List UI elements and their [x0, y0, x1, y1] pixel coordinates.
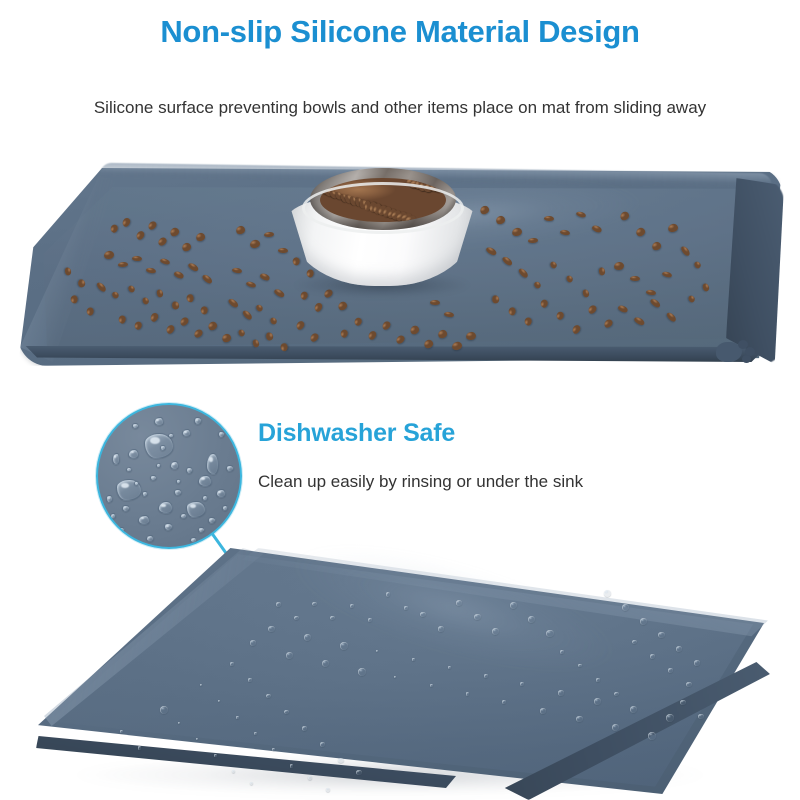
water-droplet [122, 505, 130, 512]
water-droplet [180, 513, 187, 519]
water-droplet [118, 527, 125, 533]
water-droplet [216, 489, 226, 498]
water-droplet [126, 467, 132, 472]
water-droplet [226, 465, 234, 472]
water-droplet [158, 501, 173, 514]
water-droplet [208, 517, 216, 524]
callout-circle-surface [96, 403, 242, 549]
water-droplet [156, 463, 161, 468]
water-droplet [214, 415, 220, 421]
section-title-non-slip: Non-slip Silicone Material Design [0, 12, 800, 52]
water-droplet [218, 431, 225, 438]
water-droplet [110, 513, 116, 519]
bowl-rim-ring [302, 182, 464, 234]
water-droplet [168, 433, 174, 438]
water-droplet [174, 489, 182, 496]
pet-food-bowl [288, 168, 476, 296]
water-droplet [194, 417, 202, 425]
paw-shaped-corner-tab [712, 336, 758, 366]
water-droplet [112, 453, 120, 465]
water-droplet [186, 467, 193, 474]
section-subtitle-dishwasher-safe: Clean up easily by rinsing or under the … [258, 470, 583, 494]
water-droplet [106, 495, 113, 503]
section-subtitle-non-slip: Silicone surface preventing bowls and ot… [0, 96, 800, 120]
water-droplet [202, 495, 208, 501]
dishwasher-mat-photo [30, 540, 772, 800]
water-droplet [142, 491, 148, 497]
water-droplet [170, 461, 179, 470]
water-droplet [154, 417, 164, 426]
water-droplet [132, 423, 139, 429]
section-title-dishwasher-safe: Dishwasher Safe [258, 417, 455, 449]
water-droplet [198, 475, 212, 487]
water-droplet [206, 453, 219, 475]
water-droplet [186, 501, 206, 518]
infographic-canvas: Non-slip Silicone Material Design Silico… [0, 0, 800, 800]
water-droplet [198, 527, 205, 533]
water-droplet [222, 505, 228, 511]
water-droplet [176, 479, 181, 484]
water-droplet [128, 449, 139, 459]
magnified-droplet-callout [96, 403, 242, 549]
water-droplet [182, 429, 191, 437]
water-droplet [164, 523, 173, 531]
water-droplet [138, 515, 150, 525]
water-droplet [150, 475, 157, 481]
